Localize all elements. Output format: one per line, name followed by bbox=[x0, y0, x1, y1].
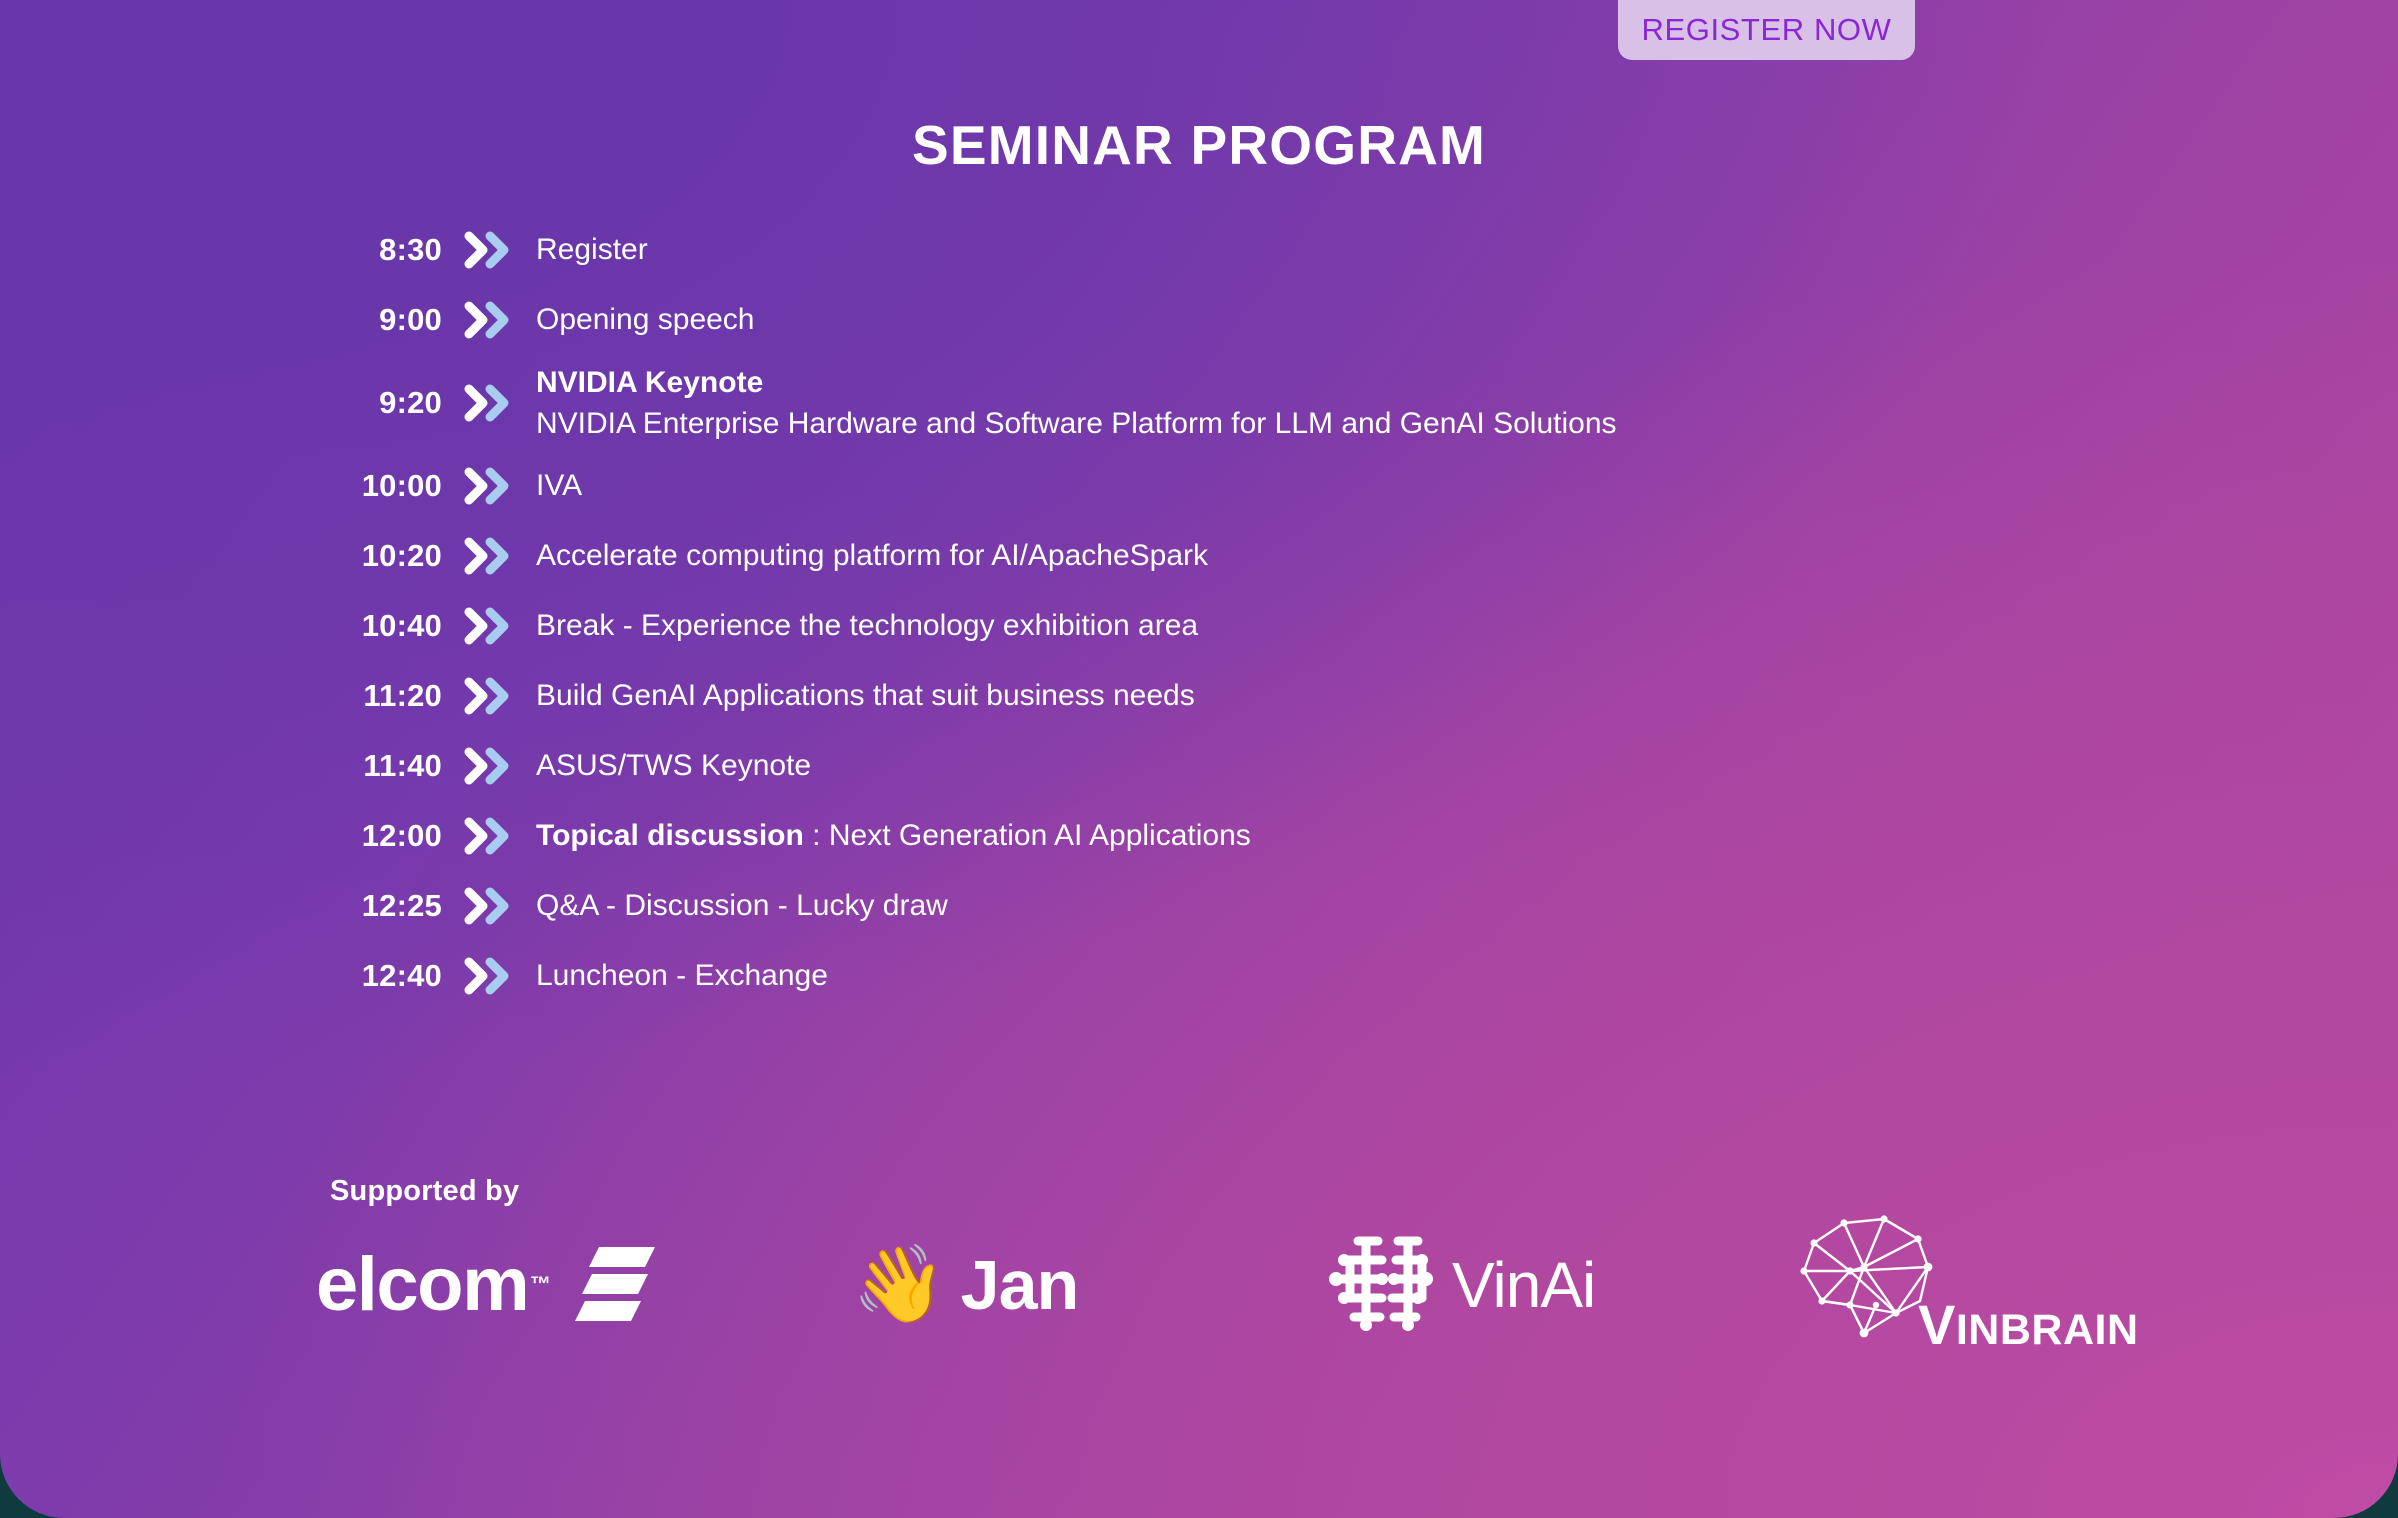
vinbrain-wordmark: VINBRAIN bbox=[1918, 1297, 2139, 1353]
trademark-icon: ™ bbox=[530, 1273, 551, 1297]
double-chevron-icon bbox=[442, 676, 536, 716]
agenda-time: 11:40 bbox=[332, 748, 442, 784]
double-chevron-icon bbox=[442, 466, 536, 506]
agenda-text: Register bbox=[536, 229, 2032, 270]
agenda-row: 12:25 Q&A - Discussion - Lucky draw bbox=[332, 871, 2032, 941]
agenda-text-lead: NVIDIA Keynote bbox=[536, 362, 2032, 403]
double-chevron-icon bbox=[442, 300, 536, 340]
agenda-text-strong: Topical discussion bbox=[536, 819, 804, 852]
agenda-time: 8:30 bbox=[332, 232, 442, 268]
agenda-time: 11:20 bbox=[332, 678, 442, 714]
agenda-row: 10:00 IVA bbox=[332, 451, 2032, 521]
agenda-row: 11:40 ASUS/TWS Keynote bbox=[332, 731, 2032, 801]
sponsor-logo-vinbrain: VINBRAIN bbox=[1762, 1215, 2232, 1355]
agenda-row: 11:20 Build GenAI Applications that suit… bbox=[332, 661, 2032, 731]
supported-by-label: Supported by bbox=[330, 1175, 519, 1208]
vinai-wordmark: VinAi bbox=[1452, 1253, 1595, 1317]
double-chevron-icon bbox=[442, 383, 536, 423]
agenda-time: 12:25 bbox=[332, 888, 442, 924]
vinai-circuit-mark-icon bbox=[1322, 1227, 1440, 1344]
sponsor-logo-jan: 👋 Jan bbox=[816, 1247, 1282, 1323]
vinbrain-rest: INBRAIN bbox=[1956, 1306, 2139, 1354]
agenda-list: 8:30 Register 9:00 Opening speech 9: bbox=[332, 215, 2032, 1011]
agenda-row: 9:00 Opening speech bbox=[332, 285, 2032, 355]
agenda-text: Q&A - Discussion - Lucky draw bbox=[536, 885, 2032, 926]
register-now-button[interactable]: REGISTER NOW bbox=[1618, 0, 1915, 60]
agenda-text: ASUS/TWS Keynote bbox=[536, 745, 2032, 786]
agenda-text: Build GenAI Applications that suit busin… bbox=[536, 675, 2032, 716]
waving-hand-icon: 👋 bbox=[852, 1247, 947, 1323]
sponsor-logo-vinai: VinAi bbox=[1282, 1227, 1762, 1344]
agenda-text: IVA bbox=[536, 465, 2032, 506]
page-title: SEMINAR PROGRAM bbox=[0, 113, 2398, 177]
agenda-time: 9:20 bbox=[332, 385, 442, 421]
vinbrain-initial: V bbox=[1918, 1293, 1956, 1356]
double-chevron-icon bbox=[442, 606, 536, 646]
agenda-text: Opening speech bbox=[536, 299, 2032, 340]
elcom-e-mark-icon bbox=[565, 1241, 657, 1330]
agenda-time: 10:00 bbox=[332, 468, 442, 504]
double-chevron-icon bbox=[442, 746, 536, 786]
agenda-time: 10:20 bbox=[332, 538, 442, 574]
sponsor-logo-elcom: elcom™ bbox=[300, 1241, 816, 1330]
agenda-text-sub: NVIDIA Enterprise Hardware and Software … bbox=[536, 403, 2032, 444]
agenda-text: NVIDIA Keynote NVIDIA Enterprise Hardwar… bbox=[536, 362, 2032, 445]
agenda-row: 12:40 Luncheon - Exchange bbox=[332, 941, 2032, 1011]
agenda-time: 10:40 bbox=[332, 608, 442, 644]
agenda-time: 12:00 bbox=[332, 818, 442, 854]
jan-wordmark: Jan bbox=[961, 1250, 1079, 1320]
double-chevron-icon bbox=[442, 230, 536, 270]
agenda-text: Accelerate computing platform for AI/Apa… bbox=[536, 535, 2032, 576]
agenda-time: 9:00 bbox=[332, 302, 442, 338]
elcom-wordmark: elcom bbox=[316, 1247, 528, 1323]
agenda-text: Break - Experience the technology exhibi… bbox=[536, 605, 2032, 646]
agenda-text: Topical discussion : Next Generation AI … bbox=[536, 815, 2032, 856]
sponsor-logo-strip: elcom™ 👋 Jan bbox=[300, 1215, 2160, 1355]
agenda-time: 12:40 bbox=[332, 958, 442, 994]
double-chevron-icon bbox=[442, 886, 536, 926]
double-chevron-icon bbox=[442, 816, 536, 856]
agenda-text-rest: : Next Generation AI Applications bbox=[804, 819, 1251, 852]
agenda-row: 10:20 Accelerate computing platform for … bbox=[332, 521, 2032, 591]
agenda-row: 12:00 Topical discussion : Next Generati… bbox=[332, 801, 2032, 871]
agenda-row: 9:20 NVIDIA Keynote NVIDIA Enterprise Ha… bbox=[332, 355, 2032, 451]
agenda-row: 8:30 Register bbox=[332, 215, 2032, 285]
double-chevron-icon bbox=[442, 536, 536, 576]
agenda-row: 10:40 Break - Experience the technology … bbox=[332, 591, 2032, 661]
agenda-text: Luncheon - Exchange bbox=[536, 955, 2032, 996]
seminar-program-slide: REGISTER NOW SEMINAR PROGRAM 8:30 Regist… bbox=[0, 0, 2398, 1518]
double-chevron-icon bbox=[442, 956, 536, 996]
